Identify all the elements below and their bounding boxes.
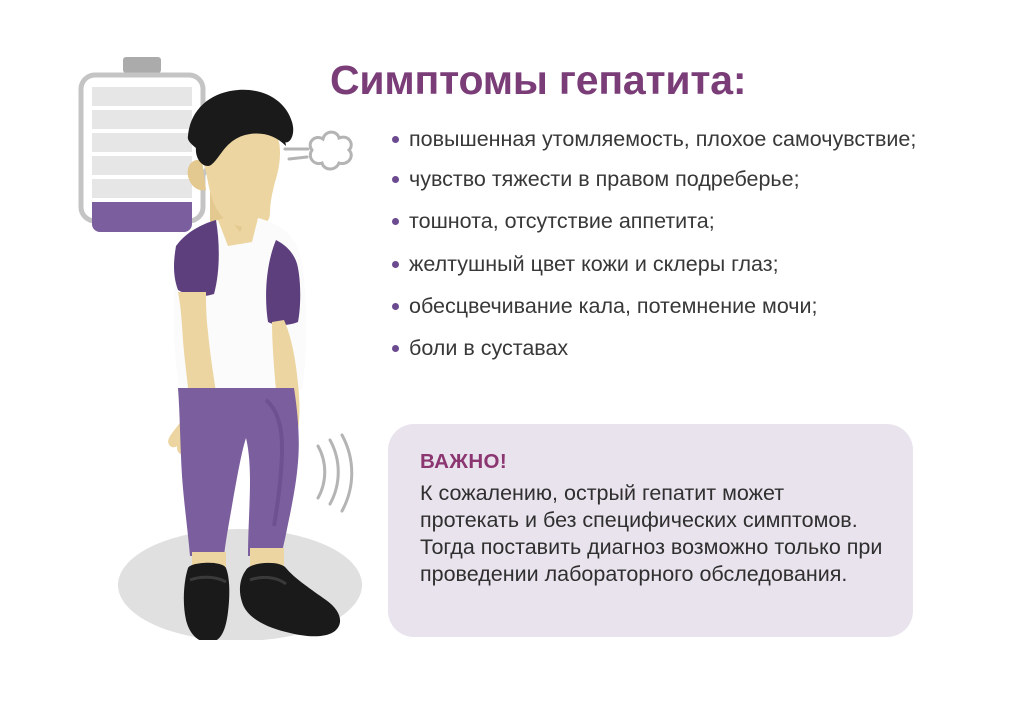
figure-shoe-left [184, 563, 229, 640]
infographic-poster: Симптомы гепатита: повышенная утомляемос… [0, 0, 1024, 724]
list-item-label: повышенная утомляемость, плохое самочувс… [409, 127, 916, 151]
bullet-dot-icon [392, 345, 399, 352]
battery-segment-empty [92, 87, 192, 106]
callout-heading: ВАЖНО! [420, 450, 883, 474]
battery-segment-empty [92, 179, 192, 198]
bullet-dot-icon [392, 261, 399, 268]
list-item-label: чувство тяжести в правом подреберье; [409, 167, 800, 191]
list-item-label: обесцвечивание кала, потемнение мочи; [409, 294, 818, 318]
important-callout-box: ВАЖНО! К сожалению, острый гепатит может… [388, 424, 913, 637]
symptom-list: повышенная утомляемость, плохое самочувс… [388, 126, 948, 377]
list-item-label: желтушный цвет кожи и склеры глаз; [409, 252, 779, 276]
list-item: обесцвечивание кала, потемнение мочи; [388, 293, 948, 319]
battery-segment-empty [92, 156, 192, 175]
list-item-label: тошнота, отсутствие аппетита; [409, 209, 715, 233]
list-item-label: боли в суставах [409, 336, 568, 360]
bullet-dot-icon [392, 218, 399, 225]
list-item: тошнота, отсутствие аппетита; [388, 208, 948, 234]
callout-body-text: К сожалению, острый гепатит может протек… [420, 480, 883, 588]
illustration-tired-man-low-battery [60, 40, 380, 640]
battery-segment-empty [92, 110, 192, 129]
page-title: Симптомы гепатита: [330, 58, 930, 104]
bullet-dot-icon [392, 136, 399, 143]
battery-segment-empty [92, 133, 192, 152]
list-item: желтушный цвет кожи и склеры глаз; [388, 251, 948, 277]
list-item: чувство тяжести в правом подреберье; [388, 166, 948, 192]
battery-segment-filled [92, 202, 192, 232]
wobble-motion-lines-icon [318, 435, 352, 511]
bullet-dot-icon [392, 303, 399, 310]
sigh-breath-cloud-icon [285, 132, 351, 169]
list-item: повышенная утомляемость, плохое самочувс… [388, 126, 948, 152]
battery-terminal [123, 57, 161, 73]
bullet-dot-icon [392, 176, 399, 183]
list-item: боли в суставах [388, 335, 948, 361]
